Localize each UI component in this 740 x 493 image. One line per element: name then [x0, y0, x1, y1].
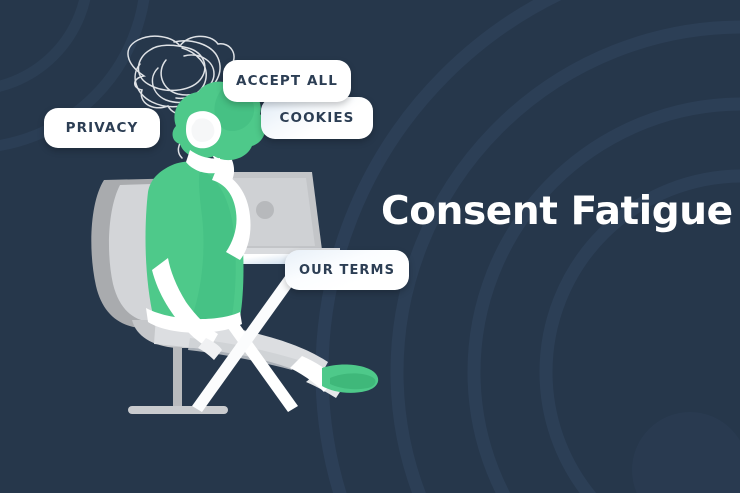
page-title: Consent Fatigue	[381, 189, 726, 235]
green-shoe	[322, 365, 378, 393]
laptop-logo-icon	[256, 201, 274, 219]
pill-cookies[interactable]: COOKIES	[261, 97, 373, 139]
pill-our-terms[interactable]: OUR TERMS	[285, 250, 409, 290]
pill-privacy[interactable]: PRIVACY	[44, 108, 160, 148]
poster-canvas: Consent Fatigue PRIVACY COOKIES ACCEPT A…	[0, 0, 740, 493]
pill-accept-all[interactable]: ACCEPT ALL	[223, 60, 351, 102]
